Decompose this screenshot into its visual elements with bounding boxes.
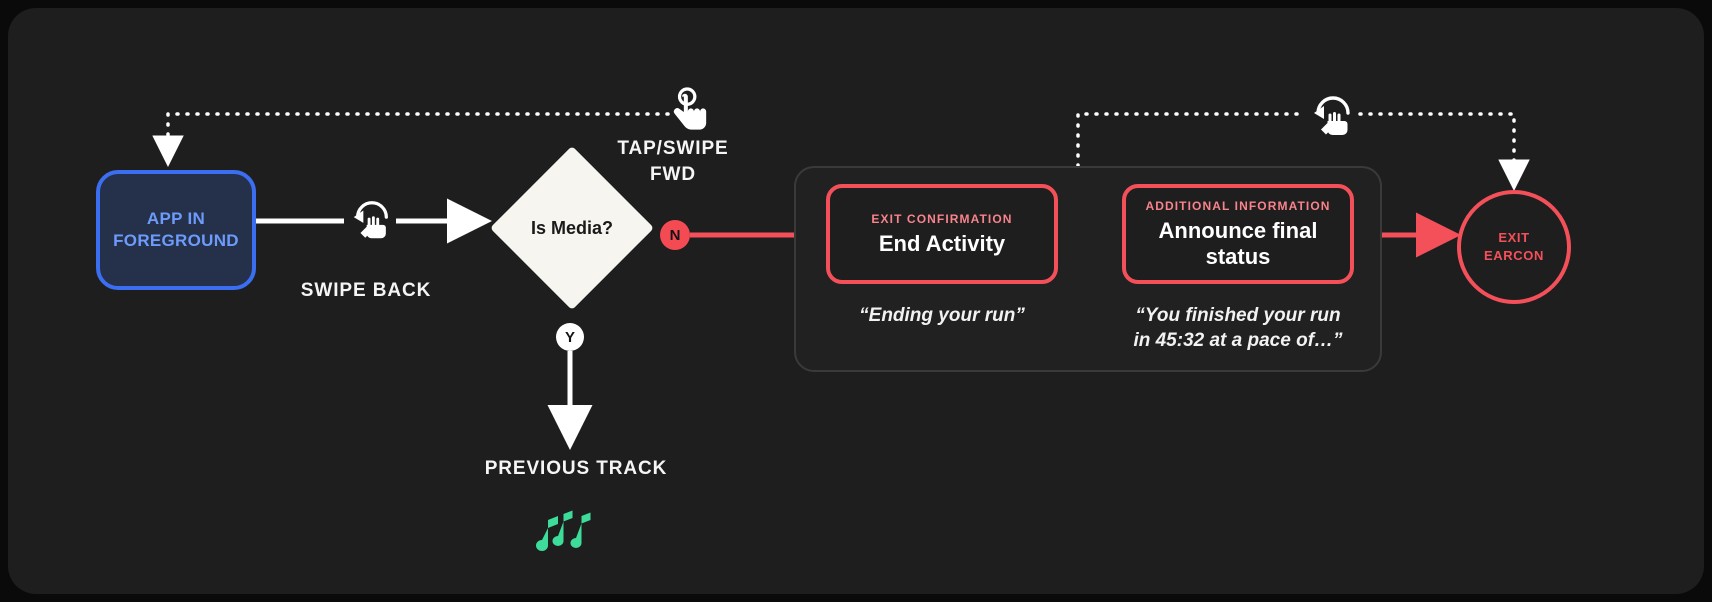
- edge-swipe-to-earcon-dotted: [1360, 114, 1514, 184]
- tap-gesture-icon: [670, 86, 712, 136]
- edge-group-to-swipe-dotted: [1078, 114, 1304, 166]
- label-tap-swipe-fwd-line1: TAP/SWIPE: [617, 138, 728, 159]
- quote-announce-status-line1: “You finished your run: [1135, 305, 1340, 326]
- node-app-in-foreground[interactable]: APP IN FOREGROUND: [96, 170, 256, 290]
- label-tap-swipe-fwd: TAP/SWIPE FWD: [578, 136, 768, 187]
- label-previous-track: PREVIOUS TRACK: [406, 458, 746, 480]
- badge-yes: Y: [556, 323, 584, 351]
- card-additional-information-title: Announce final status: [1140, 218, 1336, 270]
- quote-announce-status-line2: in 45:32 at a pace of…”: [1133, 330, 1342, 351]
- music-notes-icon: [536, 500, 598, 554]
- quote-end-activity: “Ending your run”: [826, 304, 1058, 329]
- label-tap-swipe-fwd-line2: FWD: [650, 164, 696, 185]
- quote-announce-status: “You finished your run in 45:32 at a pac…: [1118, 304, 1358, 353]
- card-additional-information-kicker: ADDITIONAL INFORMATION: [1145, 199, 1330, 213]
- card-exit-confirmation[interactable]: EXIT CONFIRMATION End Activity: [826, 184, 1058, 284]
- node-exit-earcon-label: EXIT EARCON: [1484, 229, 1544, 264]
- screenshot-root: APP IN FOREGROUND Is Media? N Y EXIT CON…: [0, 0, 1712, 602]
- card-exit-confirmation-kicker: EXIT CONFIRMATION: [871, 212, 1012, 226]
- diagram-canvas: APP IN FOREGROUND Is Media? N Y EXIT CON…: [8, 8, 1704, 594]
- node-app-in-foreground-label: APP IN FOREGROUND: [113, 208, 239, 252]
- card-additional-information[interactable]: ADDITIONAL INFORMATION Announce final st…: [1122, 184, 1354, 284]
- node-exit-earcon[interactable]: EXIT EARCON: [1457, 190, 1571, 304]
- badge-no: N: [660, 220, 690, 250]
- swipe-back-gesture-icon: [348, 198, 394, 244]
- swipe-forward-gesture-icon: [1308, 93, 1356, 141]
- label-swipe-back: SWIPE BACK: [246, 280, 486, 302]
- card-exit-confirmation-title: End Activity: [879, 231, 1005, 257]
